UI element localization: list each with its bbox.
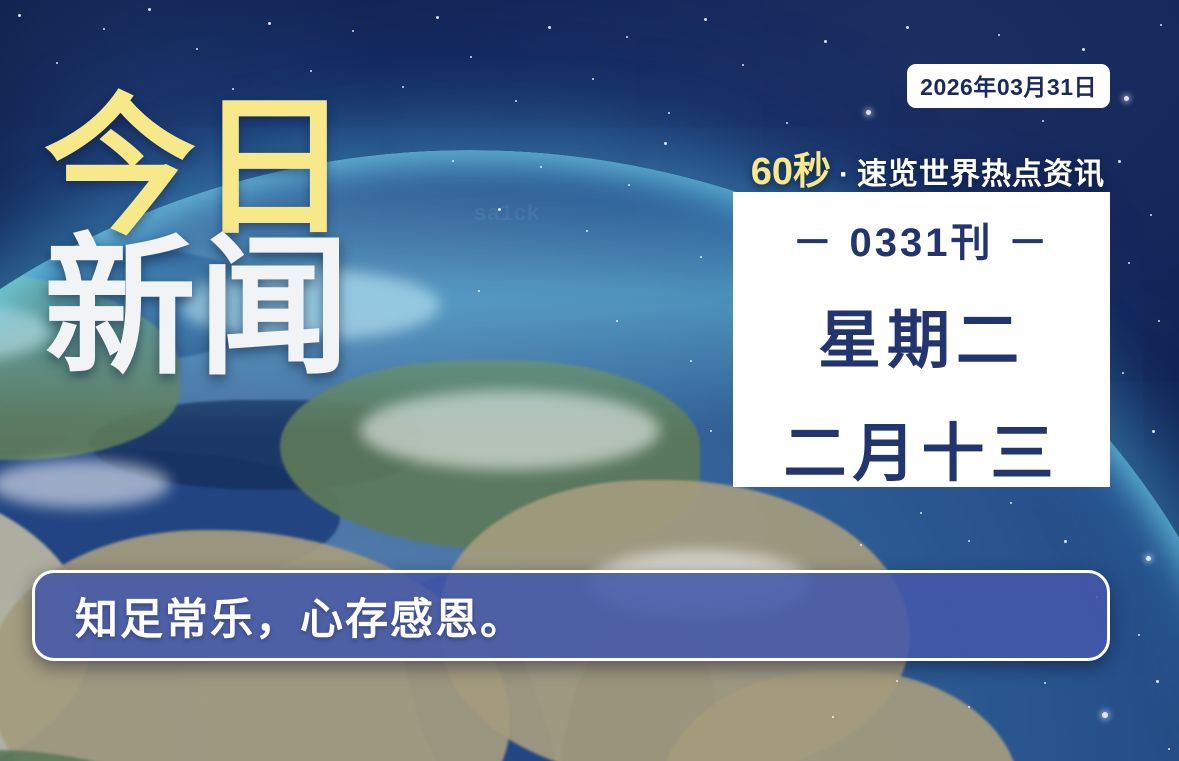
issue-number: － 0331刊 － — [792, 210, 1050, 268]
lunar-date: 二月十三 — [784, 403, 1060, 494]
quote-text: 知足常乐，心存感恩。 — [35, 585, 525, 647]
weekday-label: 星期二 — [818, 290, 1025, 381]
masthead-title: 今日 新闻 — [44, 96, 352, 382]
date-badge: 2026年03月31日 — [907, 64, 1110, 108]
news-poster: sa1ck 今日 新闻 2026年03月31日 60秒 · 速览世界热点资讯 －… — [0, 0, 1179, 761]
tagline: 60秒 · 速览世界热点资讯 — [751, 140, 1105, 195]
info-card: － 0331刊 － 星期二 二月十三 — [733, 192, 1110, 487]
masthead-line-2: 新闻 — [44, 236, 352, 382]
tagline-highlight: 60秒 — [751, 140, 831, 195]
tagline-separator: · — [833, 158, 855, 192]
masthead-line-1: 今日 — [44, 96, 352, 242]
tagline-text: 速览世界热点资讯 — [857, 149, 1105, 193]
quote-banner: 知足常乐，心存感恩。 — [32, 570, 1110, 661]
